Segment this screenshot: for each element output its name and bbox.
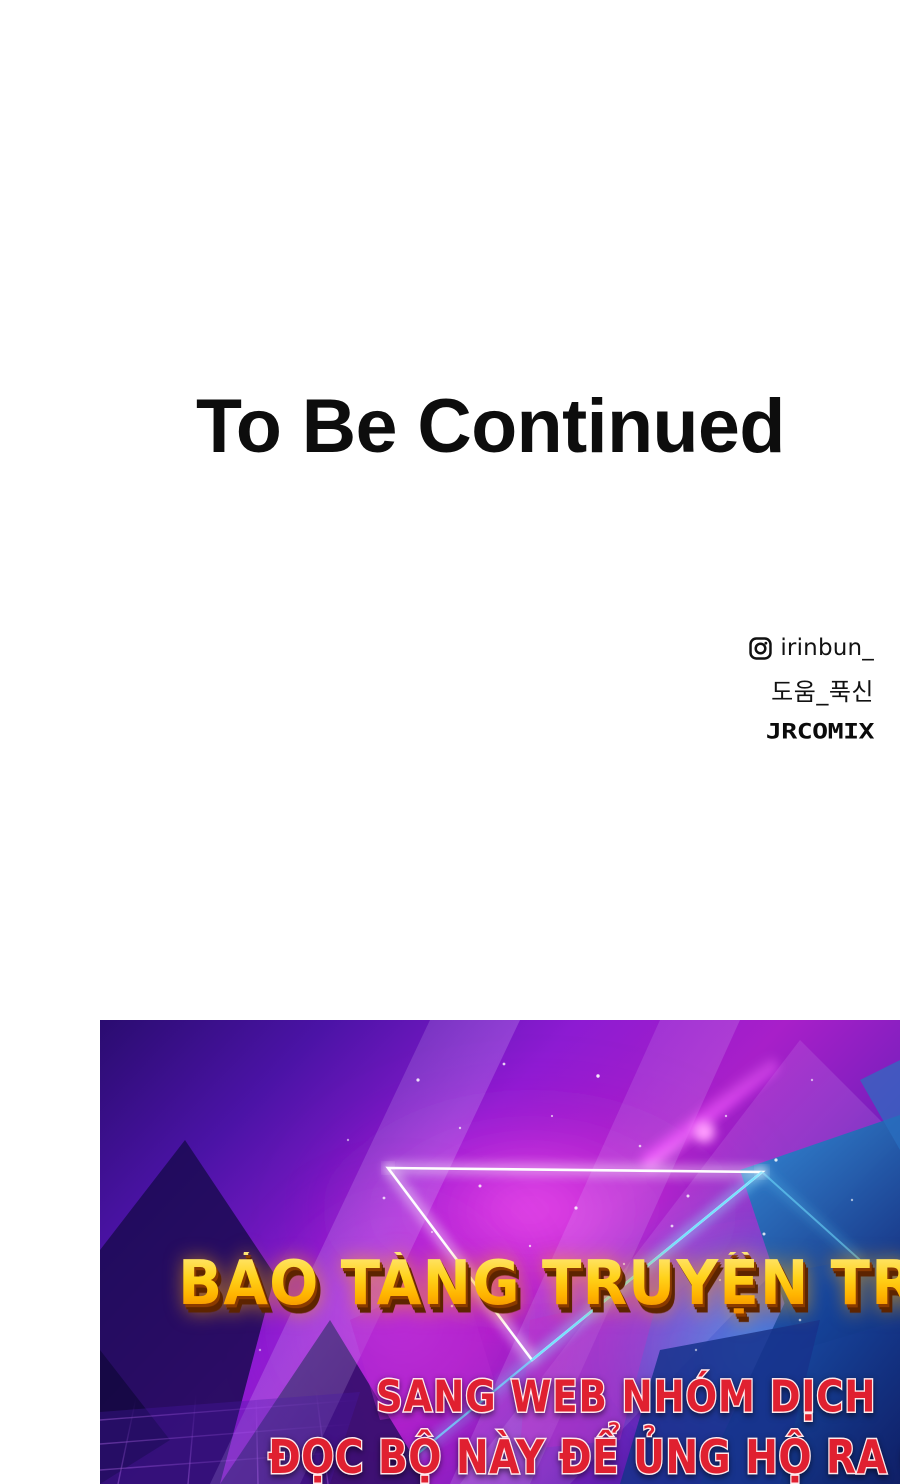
comic-end-page: To Be Continued irinbun_ 도움_푹신 JRCOMIX bbox=[0, 0, 900, 1484]
instagram-icon bbox=[749, 637, 772, 660]
instagram-handle: irinbun_ bbox=[780, 637, 874, 660]
korean-credit-text: 도움_푹신 bbox=[554, 680, 874, 704]
instagram-credit-row: irinbun_ bbox=[554, 632, 874, 664]
banner-artwork bbox=[100, 1020, 900, 1484]
credits-block: irinbun_ 도움_푹신 JRCOMIX bbox=[554, 632, 874, 745]
to-be-continued-text: To Be Continued bbox=[196, 389, 785, 465]
promo-banner[interactable]: BẢO TÀNG TRUYỆN TRANH.CO SANG WEB NHÓM D… bbox=[100, 1020, 900, 1484]
studio-logo-jrcomix: JRCOMIX bbox=[548, 721, 874, 742]
